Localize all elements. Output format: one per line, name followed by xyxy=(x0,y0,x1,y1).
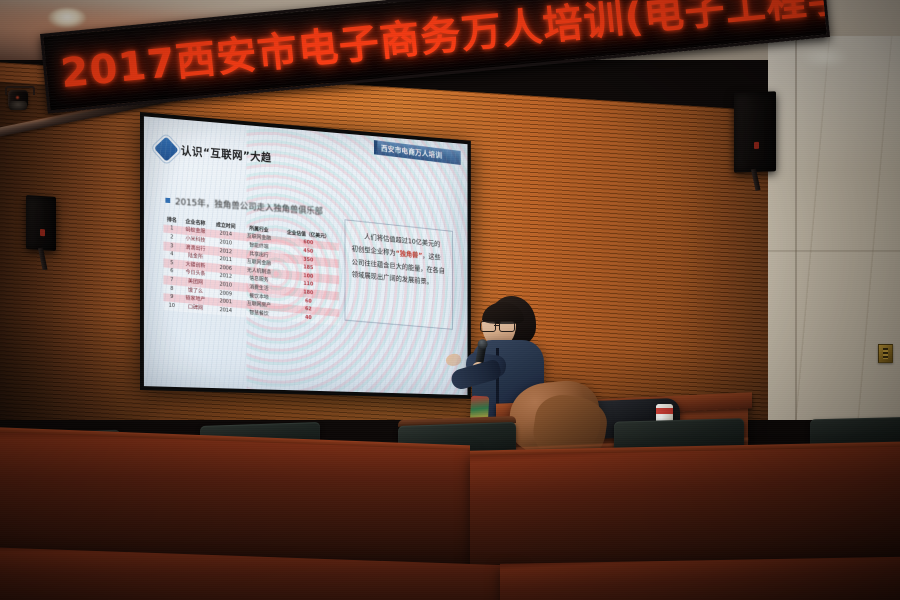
wall-speaker-left xyxy=(26,195,56,251)
eyeglasses-icon xyxy=(480,321,514,330)
lecture-hall-photo: 2017西安市电子商务万人培训(电子工程学院) 西安市电商万人培训 认识“互联网… xyxy=(0,0,900,600)
stage-light-icon xyxy=(8,86,28,112)
marble-wall-highlight xyxy=(800,46,850,68)
wall-speaker-right xyxy=(734,91,776,172)
projected-slide: 西安市电商万人培训 认识“互联网”大趋 2015年，独角兽公司走入独角兽俱乐部 … xyxy=(144,116,468,395)
marble-seam-horizontal xyxy=(768,250,900,252)
projection-screen: 西安市电商万人培训 认识“互联网”大趋 2015年，独角兽公司走入独角兽俱乐部 … xyxy=(140,112,471,399)
wall-socket[interactable] xyxy=(878,344,893,363)
auditorium-desk-row xyxy=(470,443,900,570)
auditorium-desk-row xyxy=(500,556,900,600)
screen-vignette xyxy=(144,116,468,395)
auditorium-desk-row xyxy=(0,429,470,568)
recessed-ceiling-lamp xyxy=(48,8,86,28)
